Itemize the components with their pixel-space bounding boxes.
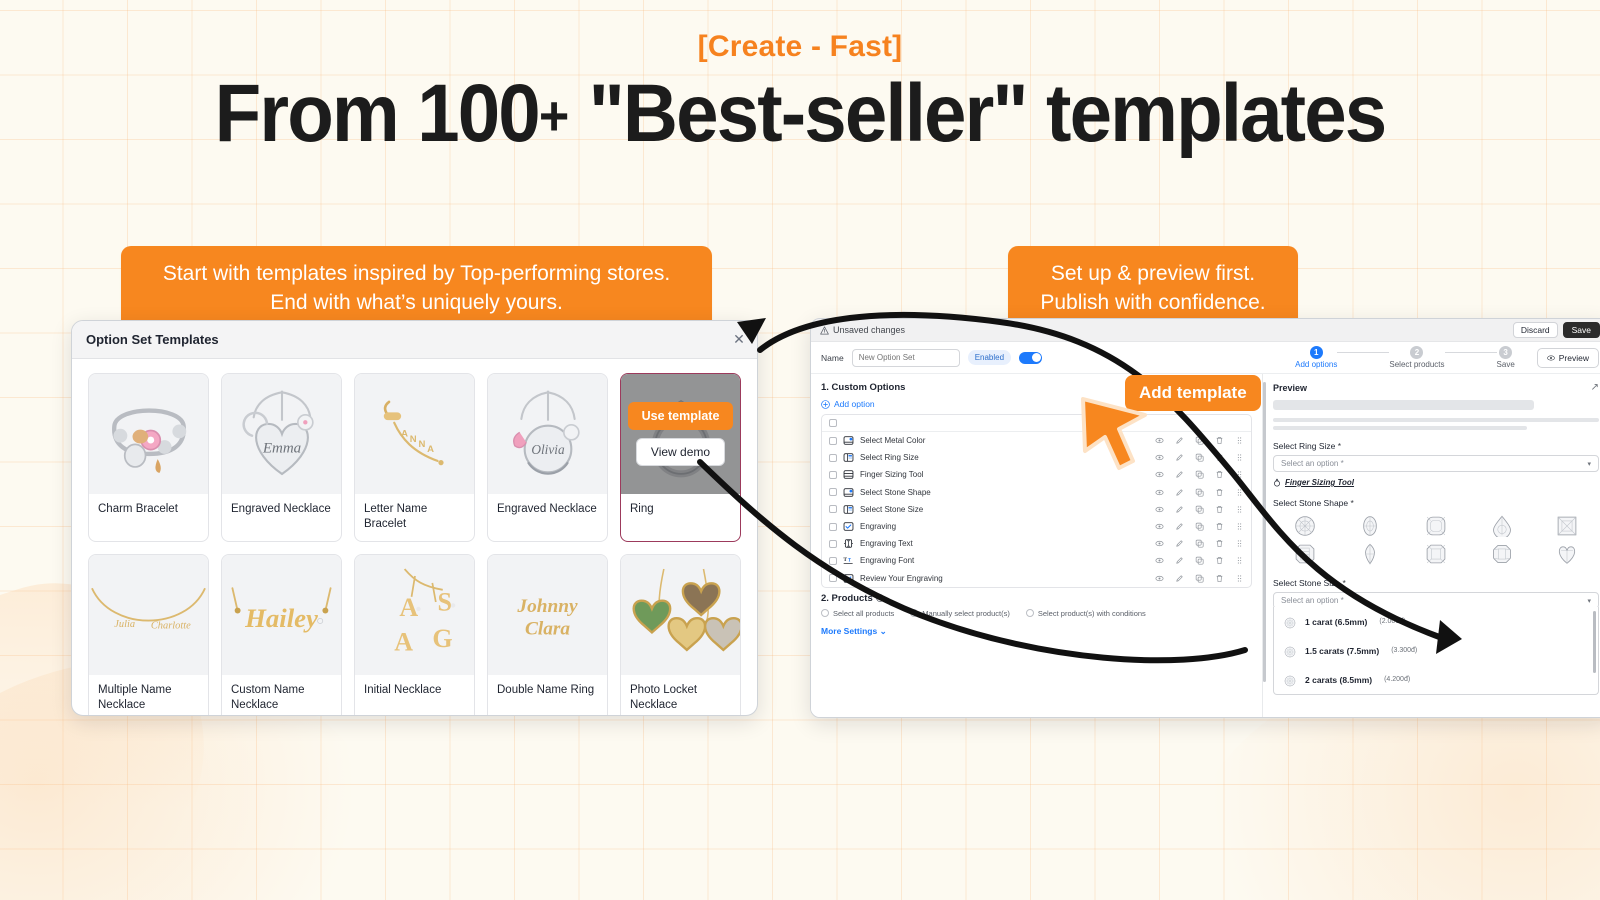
app-subbar: Name Enabled 1 Add options2 Select produ… [811,342,1600,374]
row-checkbox[interactable] [829,523,837,531]
template-label: Ring [621,494,740,526]
enabled-toggle[interactable] [1019,352,1042,364]
row-checkbox[interactable] [829,437,837,445]
chevron-down-icon: ▾ [1587,597,1591,605]
template-thumbnail: Emma [222,374,341,494]
preview-button[interactable]: Preview [1537,348,1599,368]
stepper-label: Save [1497,360,1515,369]
template-label: Letter Name Bracelet [355,494,474,541]
drag-handle-icon[interactable] [1235,522,1244,531]
add-option-label: Add option [834,399,875,409]
stone-size-option-price: (3.300đ) [1391,647,1417,654]
radio-label: Select all products [833,609,894,618]
row-checkbox[interactable] [829,557,837,565]
option-row[interactable]: TT Engraving Font [822,552,1251,569]
option-name: Select Stone Size [860,505,1149,514]
stone-shape-oval[interactable] [1339,513,1403,539]
stone-shape-marquise[interactable] [1339,541,1403,567]
svg-text:A: A [399,593,418,622]
svg-text:Olivia: Olivia [531,442,565,457]
option-set-editor-window: Unsaved changes Discard Save Name Enable… [810,318,1600,718]
swatch-icon [843,435,854,446]
drag-handle-icon[interactable] [1235,574,1244,583]
option-name: Select Metal Color [860,436,1149,445]
dropdown-icon [843,452,854,463]
callout-right-line2: Publish with confidence. [1026,288,1280,317]
stone-shape-round[interactable] [1273,513,1337,539]
modal-title: Option Set Templates [86,332,219,347]
option-row[interactable]: Select Stone Size [822,501,1251,518]
option-name: Engraving Font [860,556,1149,565]
eye-icon[interactable] [1155,488,1164,497]
row-actions [1155,505,1244,514]
ring-size-label: Select Ring Size * [1273,441,1599,451]
trash-icon[interactable] [1215,470,1224,479]
drag-handle-icon[interactable] [1235,488,1244,497]
option-name: Engraving Text [860,539,1149,548]
stone-size-option-price: (4.200đ) [1384,676,1410,683]
gem-icon [1284,616,1296,628]
discard-button[interactable]: Discard [1513,322,1558,338]
stone-size-select-placeholder: Select an option * [1281,596,1344,605]
callout-right-line1: Set up & preview first. [1026,259,1280,288]
template-thumbnail: Hailey [222,555,341,675]
row-checkbox[interactable] [829,488,837,496]
checkbox-icon [843,521,854,532]
drag-handle-icon[interactable] [1235,470,1244,479]
template-card[interactable]: Johnny Clara Double Name Ring [487,554,608,716]
product-scope-radios: Select all products Manually select prod… [821,609,1252,618]
stone-size-option-label: 1.5 carats (7.5mm) [1305,646,1379,656]
stone-shape-radiant[interactable] [1404,541,1468,567]
view-demo-button[interactable]: View demo [636,438,725,466]
template-label: Charm Bracelet [89,494,208,526]
app-topbar: Unsaved changes Discard Save [811,319,1600,342]
stone-shape-heart[interactable] [1535,541,1599,567]
row-actions [1155,453,1244,462]
eye-icon[interactable] [1155,522,1164,531]
products-section: 2. Products Select all products Manually… [821,593,1252,618]
custom-options-title: 1. Custom Options [821,382,1252,393]
eye-icon[interactable] [1155,505,1164,514]
template-card[interactable]: AS AG Initial Necklace [354,554,475,716]
preview-skeleton-line-2 [1273,426,1527,430]
option-row[interactable]: Select Ring Size [822,449,1251,466]
more-settings-toggle[interactable]: More Settings ⌄ [821,626,1252,637]
required-marker: * [1351,498,1354,508]
eye-icon[interactable] [1155,453,1164,462]
row-actions [1155,470,1244,479]
stepper-label: Add options [1295,360,1337,369]
trash-icon[interactable] [1215,522,1224,531]
option-name: Review Your Engraving [860,574,1149,583]
warning-icon [820,326,829,335]
gem-icon [1284,645,1296,657]
headline-part-1: From 100 [215,68,539,159]
template-thumbnail: AS AG [355,555,474,675]
chevron-down-icon: ▾ [1587,460,1591,468]
headline-plus: + [539,84,569,147]
stone-size-option[interactable]: 2 carats (8.5mm) (4.200đ) [1274,665,1598,694]
eye-icon[interactable] [1155,556,1164,565]
stone-shape-label: Select Stone Shape * [1273,498,1599,508]
name-field-label: Name [821,353,844,363]
stepper-number: 1 [1310,346,1323,359]
option-name: Finger Sizing Tool [860,470,1149,479]
template-card[interactable]: Julia Charlotte Multiple Name Necklace [88,554,209,716]
ring-size-label-text: Select Ring Size [1273,441,1335,451]
duplicate-icon[interactable] [1195,522,1204,531]
finger-sizing-tool-label: Finger Sizing Tool [1285,478,1354,487]
stone-size-option[interactable]: 1 carat (6.5mm) (2.000đ) [1274,607,1598,636]
template-hover-overlay: Use template View demo [621,374,740,494]
template-label: Multiple Name Necklace [89,675,208,716]
row-checkbox[interactable] [829,454,837,462]
svg-text:Emma: Emma [261,440,300,456]
products-title: 2. Products [821,593,1252,604]
options-table-header [822,415,1251,432]
template-card[interactable]: Photo Locket Necklace [620,554,741,716]
stone-size-option-price: (2.000đ) [1379,618,1405,625]
template-thumbnail: AN NA [355,374,474,494]
option-row[interactable]: Select Stone Shape [822,484,1251,501]
ring-size-select-placeholder: Select an option * [1281,459,1344,468]
drag-handle-icon[interactable] [1235,453,1244,462]
row-actions [1155,522,1244,531]
option-set-templates-modal: Option Set Templates ✕ Charm Bracelet [71,320,758,716]
row-checkbox[interactable] [829,505,837,513]
stepper-step[interactable]: 3 Save [1497,346,1515,369]
ring-size-select[interactable]: Select an option * ▾ [1273,455,1599,472]
eye-icon[interactable] [1155,436,1164,445]
stepper-number: 2 [1410,346,1423,359]
svg-text:Charlotte: Charlotte [151,620,191,631]
use-template-button[interactable]: Use template [628,402,734,430]
template-label: Initial Necklace [355,675,474,707]
close-icon[interactable]: ✕ [731,331,747,347]
template-thumbnail [89,374,208,494]
svg-text:Julia: Julia [114,619,135,630]
preview-header: Preview ↗ [1273,382,1599,393]
pencil-icon[interactable] [1175,436,1184,445]
save-button[interactable]: Save [1563,322,1600,338]
swatch-icon [843,487,854,498]
row-checkbox[interactable] [829,471,837,479]
dropdown-icon [843,504,854,515]
pencil-icon[interactable] [1175,522,1184,531]
svg-text:Clara: Clara [525,618,570,639]
template-card[interactable]: Use template View demo Ring [620,373,741,542]
preview-title: Preview [1273,383,1307,393]
row-actions [1155,574,1244,583]
stepper-step[interactable]: 1 Add options [1295,346,1337,369]
duplicate-icon[interactable] [1195,556,1204,565]
eye-icon[interactable] [1155,539,1164,548]
svg-text:A: A [401,429,408,440]
drag-handle-icon[interactable] [1235,505,1244,514]
stone-shape-asscher[interactable] [1470,541,1534,567]
template-thumbnail [621,555,740,675]
template-thumbnail: Julia Charlotte [89,555,208,675]
stone-size-options: 1 carat (6.5mm) (2.000đ) 1.5 carats (7.5… [1274,607,1598,694]
row-checkbox[interactable] [829,540,837,548]
svg-text:T: T [848,559,852,564]
dropdown-scrollbar[interactable] [1593,611,1596,673]
options-rows: Select Metal Color Select Ring Size Fing… [822,432,1251,587]
stepper-label: Select products [1389,360,1444,369]
required-marker: * [1342,578,1345,588]
stone-size-option-label: 1 carat (6.5mm) [1305,617,1367,627]
row-checkbox[interactable] [829,574,837,582]
stone-size-label-text: Select Stone Size [1273,578,1340,588]
options-table: Select Metal Color Select Ring Size Fing… [821,414,1252,588]
option-row[interactable]: Select Metal Color [822,432,1251,449]
template-thumbnail: Olivia [488,374,607,494]
stone-size-option-label: 2 carats (8.5mm) [1305,675,1372,685]
trash-icon[interactable] [1215,436,1224,445]
stone-shape-pear[interactable] [1470,513,1534,539]
svg-text:Johnny: Johnny [516,596,578,617]
duplicate-icon[interactable] [1195,470,1204,479]
select-all-checkbox[interactable] [829,419,837,427]
option-name: Select Ring Size [860,453,1149,462]
pencil-icon[interactable] [1175,574,1184,583]
expand-icon[interactable]: ↗ [1591,382,1599,393]
trash-icon[interactable] [1215,539,1224,548]
template-card[interactable]: Charm Bracelet [88,373,209,542]
radio-button[interactable] [821,609,829,617]
trash-icon[interactable] [1215,453,1224,462]
eye-icon[interactable] [1155,574,1164,583]
row-actions [1155,436,1244,445]
stepper-connector [1337,352,1389,353]
required-marker: * [1338,441,1341,451]
svg-text:A: A [427,444,434,455]
stepper-connector [1445,352,1497,353]
svg-text:S: S [437,588,451,617]
textfield-icon [843,538,854,549]
page-title: From 100+ "Best-seller" templates [56,72,1544,156]
unsaved-changes-indicator: Unsaved changes [820,325,905,335]
radio-button[interactable] [1026,609,1034,617]
svg-text:G: G [432,624,452,653]
question-circle-icon[interactable] [876,594,884,602]
drag-handle-icon[interactable] [1235,556,1244,565]
template-card[interactable]: AN NA Letter Name Bracelet [354,373,475,542]
pencil-icon[interactable] [1175,470,1184,479]
svg-text:N: N [418,439,425,450]
callout-left-line1: Start with templates inspired by Top-per… [139,259,694,288]
template-card[interactable]: Emma Engraved Necklace [221,373,342,542]
template-card[interactable]: Olivia Engraved Necklace [487,373,608,542]
unsaved-changes-label: Unsaved changes [833,325,905,335]
font-icon: TT [843,555,854,566]
row-actions [1155,488,1244,497]
trash-icon[interactable] [1215,556,1224,565]
more-settings-label: More Settings [821,626,877,636]
trash-icon[interactable] [1215,505,1224,514]
svg-text:T: T [843,558,847,564]
template-label: Double Name Ring [488,675,607,707]
template-card[interactable]: Hailey Custom Name Necklace [221,554,342,716]
callout-left-line2: End with what’s uniquely yours. [139,288,694,317]
checkbox-icon [843,573,854,584]
duplicate-icon[interactable] [1195,453,1204,462]
svg-text:Hailey: Hailey [244,603,318,633]
stone-shape-princess[interactable] [1535,513,1599,539]
product-scope-radio[interactable]: Manually select product(s) [910,609,1010,618]
option-row[interactable]: Engraving [822,518,1251,535]
pencil-icon[interactable] [1175,453,1184,462]
headline-part-2: "Best-seller" templates [589,68,1386,159]
stone-shape-grid [1273,513,1599,567]
drag-handle-icon[interactable] [1235,436,1244,445]
drag-handle-icon[interactable] [1235,539,1244,548]
svg-text:N: N [409,434,416,445]
template-thumbnail: Use template View demo [621,374,740,494]
stone-size-label: Select Stone Size * [1273,578,1599,588]
row-actions [1155,556,1244,565]
option-row[interactable]: Engraving Text [822,535,1251,552]
preview-scrollbar[interactable] [1263,382,1266,682]
template-label: Custom Name Necklace [222,675,341,716]
trash-icon[interactable] [1215,488,1224,497]
hero-eyebrow: [Create - Fast] [0,30,1600,64]
duplicate-icon[interactable] [1195,539,1204,548]
preview-skeleton-title [1273,400,1534,410]
stone-size-dropdown: 1 carat (6.5mm) (2.000đ) 1.5 carats (7.5… [1273,607,1599,695]
stepper-step[interactable]: 2 Select products [1389,346,1444,369]
duplicate-icon[interactable] [1195,488,1204,497]
template-label: Engraved Necklace [222,494,341,526]
eye-icon[interactable] [1155,470,1164,479]
stone-shape-cushion[interactable] [1404,513,1468,539]
product-scope-radio[interactable]: Select all products [821,609,894,618]
duplicate-icon[interactable] [1195,436,1204,445]
finger-sizing-tool-link[interactable]: Finger Sizing Tool [1273,478,1599,487]
radio-label: Manually select product(s) [922,609,1010,618]
pencil-icon[interactable] [1175,556,1184,565]
template-label: Photo Locket Necklace [621,675,740,716]
template-grid: Charm Bracelet Emma Engraved Necklace AN… [88,373,741,716]
products-title-label: 2. Products [821,593,873,604]
trash-icon[interactable] [1215,574,1224,583]
option-row[interactable]: Finger Sizing Tool [822,466,1251,483]
chevron-down-icon: ⌄ [880,626,887,636]
image-icon [843,469,854,480]
radio-label: Select product(s) with conditions [1038,609,1146,618]
radio-button[interactable] [910,609,918,617]
pencil-icon[interactable] [1175,539,1184,548]
pencil-icon[interactable] [1175,488,1184,497]
preview-button-label: Preview [1559,353,1589,363]
product-scope-radio[interactable]: Select product(s) with conditions [1026,609,1146,618]
svg-text:A: A [394,628,413,657]
plus-circle-icon [821,400,830,409]
status-badge: Enabled [968,350,1011,365]
stepper-number: 3 [1499,346,1512,359]
stone-shape-emerald[interactable] [1273,541,1337,567]
stone-size-option[interactable]: 1.5 carats (7.5mm) (3.300đ) [1274,636,1598,665]
custom-options-column: 1. Custom Options Add option Select Meta… [811,374,1263,717]
row-actions [1155,539,1244,548]
option-row[interactable]: Review Your Engraving [822,570,1251,587]
add-option-button[interactable]: Add option [821,399,1252,409]
ring-icon [1273,478,1281,487]
progress-stepper: 1 Add options2 Select products3 Save [1295,346,1521,369]
pencil-icon[interactable] [1175,505,1184,514]
template-thumbnail: Johnny Clara [488,555,607,675]
modal-body: Charm Bracelet Emma Engraved Necklace AN… [72,359,757,716]
template-label: Engraved Necklace [488,494,607,526]
preview-column: Preview ↗ Select Ring Size * Select an o… [1263,374,1600,717]
modal-header: Option Set Templates ✕ [72,321,757,359]
duplicate-icon[interactable] [1195,574,1204,583]
option-name: Engraving [860,522,1149,531]
gem-icon [1284,674,1296,686]
stone-shape-label-text: Select Stone Shape [1273,498,1348,508]
eye-icon [1547,354,1555,362]
app-body: 1. Custom Options Add option Select Meta… [811,374,1600,717]
option-name: Select Stone Shape [860,488,1149,497]
option-set-name-input[interactable] [852,349,960,367]
duplicate-icon[interactable] [1195,505,1204,514]
preview-skeleton-line-1 [1273,418,1599,422]
